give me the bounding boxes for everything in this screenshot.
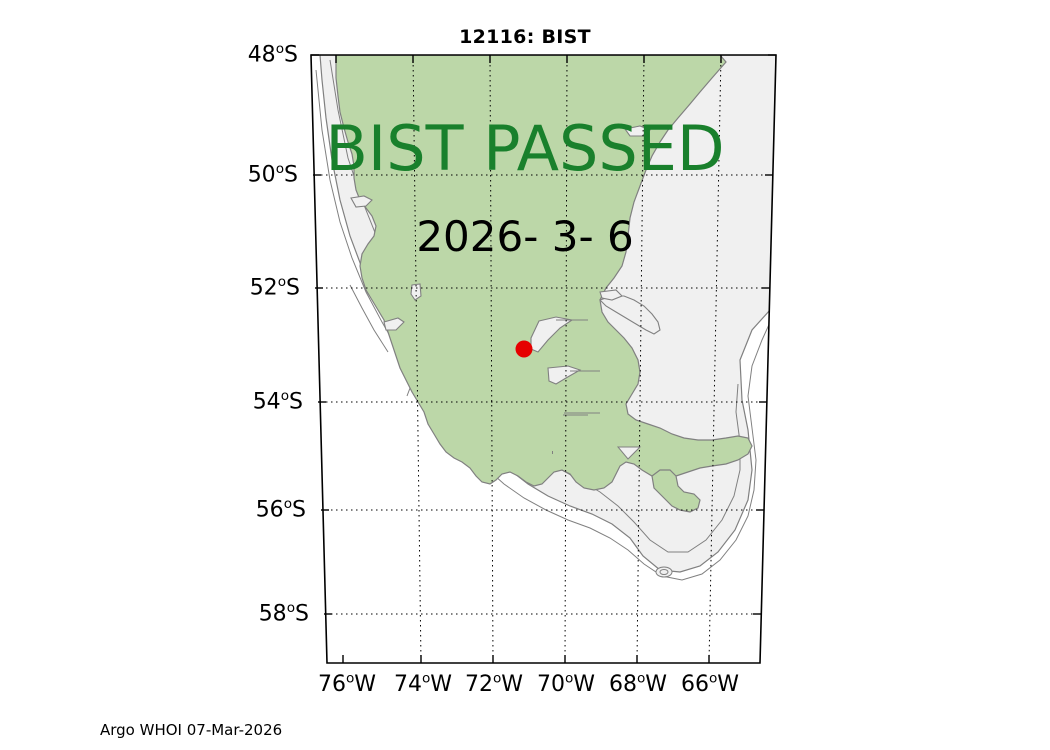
y-tick-label-58S: 58oS (239, 602, 309, 627)
x-tick-label-72W: 72oW (465, 672, 523, 697)
x-tick-label-68W: 68oW (609, 672, 667, 697)
y-tick-label-52S: 52oS (230, 276, 300, 301)
y-tick-label-50S: 50oS (228, 163, 298, 188)
x-tick-label-74W: 74oW (394, 672, 452, 697)
map-figure-root: 12116: BIST (0, 0, 1050, 750)
x-tick-label-76W: 76oW (318, 672, 376, 697)
island-speck (552, 451, 553, 454)
x-tick-label-70W: 70oW (537, 672, 595, 697)
map-canvas (0, 0, 1050, 750)
y-tick-label-54S: 54oS (233, 390, 303, 415)
island-small-east (656, 567, 672, 577)
y-tick-label-56S: 56oS (236, 498, 306, 523)
x-tick-label-66W: 66oW (681, 672, 739, 697)
footer-credit: Argo WHOI 07-Mar-2026 (100, 721, 282, 739)
y-tick-label-48S: 48oS (228, 43, 298, 68)
float-position-marker[interactable] (516, 341, 533, 358)
